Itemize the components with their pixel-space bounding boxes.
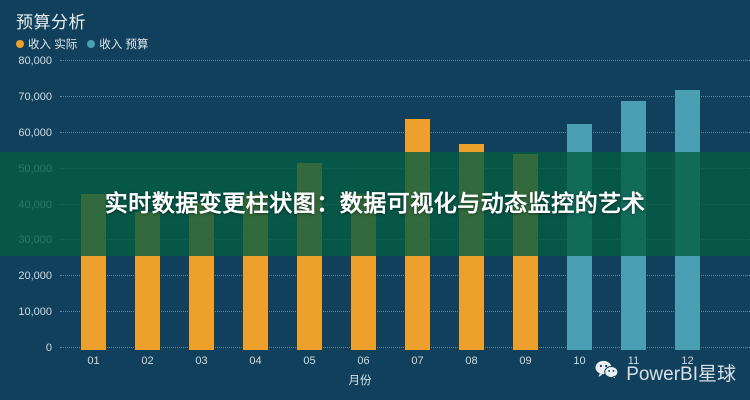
y-axis-tick-label: 0 — [46, 342, 52, 354]
legend-label-budget: 收入 预算 — [99, 36, 148, 52]
screenshot-root: 预算分析 收入 实际 收入 预算 010,00020,00030,00040,0… — [0, 0, 750, 400]
y-axis-tick-label: 60,000 — [18, 127, 52, 139]
legend-item-actual[interactable]: 收入 实际 — [16, 36, 77, 52]
watermark: PowerBI星球 — [595, 359, 736, 386]
y-axis-tick-label: 70,000 — [18, 91, 52, 103]
x-axis-tick-label: 03 — [195, 355, 207, 367]
x-axis-tick-label: 10 — [573, 355, 585, 367]
x-axis-tick-label: 08 — [465, 355, 477, 367]
x-axis-tick-label: 09 — [519, 355, 531, 367]
headline-text: 实时数据变更柱状图：数据可视化与动态监控的艺术 — [0, 152, 750, 256]
legend-dot-actual — [16, 40, 24, 48]
watermark-label: PowerBI星球 — [626, 359, 736, 386]
y-axis-tick-label: 20,000 — [18, 270, 52, 282]
x-axis-tick-label: 02 — [141, 355, 153, 367]
x-axis-tick-label: 05 — [303, 355, 315, 367]
legend-dot-budget — [87, 40, 95, 48]
wechat-icon — [595, 360, 619, 386]
chart-title: 预算分析 — [16, 8, 86, 33]
x-axis-title: 月份 — [60, 372, 660, 388]
x-axis-tick-label: 04 — [249, 355, 261, 367]
x-axis-tick-label: 01 — [87, 355, 99, 367]
legend-item-budget[interactable]: 收入 预算 — [87, 36, 148, 52]
y-axis-tick-label: 80,000 — [18, 55, 52, 67]
x-axis-tick-label: 07 — [411, 355, 423, 367]
y-axis-tick-label: 10,000 — [18, 306, 52, 318]
x-axis-tick-label: 06 — [357, 355, 369, 367]
legend-label-actual: 收入 实际 — [28, 36, 77, 52]
chart-legend: 收入 实际 收入 预算 — [16, 36, 148, 52]
